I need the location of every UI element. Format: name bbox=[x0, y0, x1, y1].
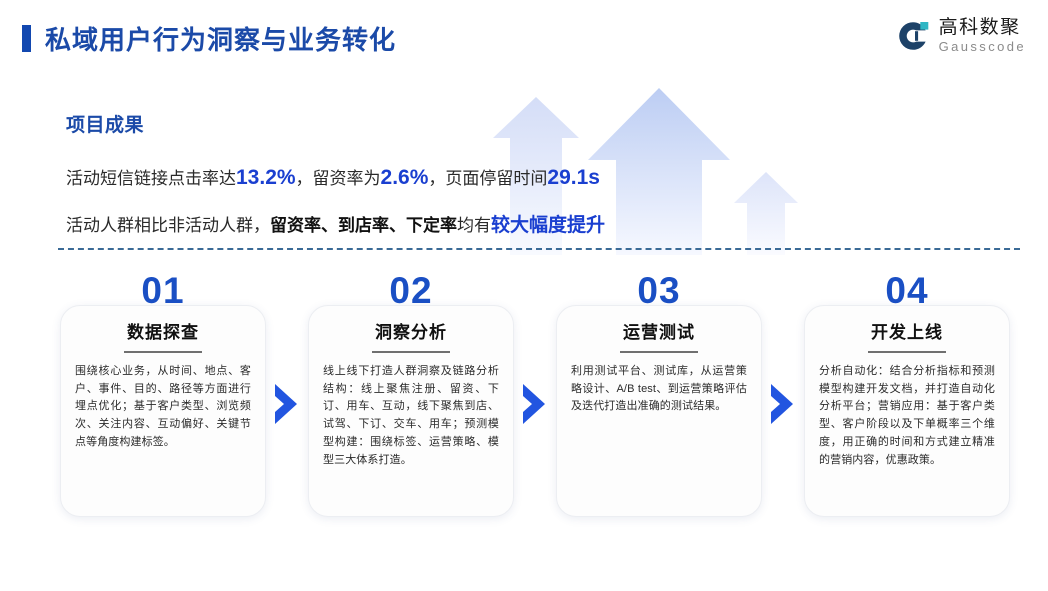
step-card-body: 线上线下打造人群洞察及链路分析结构：线上聚焦注册、留资、下订、用车、互动，线下聚… bbox=[323, 363, 499, 470]
logo-name-en: Gausscode bbox=[939, 40, 1026, 53]
step-card-title: 运营测试 bbox=[571, 324, 747, 343]
step-number: 03 bbox=[556, 272, 762, 309]
results-heading: 项目成果 bbox=[66, 110, 766, 137]
step-card-title: 数据探查 bbox=[75, 324, 251, 343]
step-number: 04 bbox=[804, 272, 1010, 309]
process-step: 01 数据探查 围绕核心业务，从时间、地点、客户、事件、目的、路径等方面进行埋点… bbox=[60, 272, 266, 527]
slide-root: 私域用户行为洞察与业务转化 高科数聚 Gausscode bbox=[0, 0, 1048, 591]
gausscode-logo-icon bbox=[896, 19, 930, 53]
step-card-title: 开发上线 bbox=[819, 324, 995, 343]
step-card-body: 分析自动化：结合分析指标和预测模型构建开发文档，并打造自动化分析平台；营销应用：… bbox=[819, 363, 995, 470]
results-line2-seg2: 均有 bbox=[457, 216, 491, 235]
process-step: 02 洞察分析 线上线下打造人群洞察及链路分析结构：线上聚焦注册、留资、下订、用… bbox=[308, 272, 514, 527]
results-line1-seg2: ，留资率为 bbox=[296, 169, 381, 188]
step-card-body: 围绕核心业务，从时间、地点、客户、事件、目的、路径等方面进行埋点优化；基于客户类… bbox=[75, 363, 251, 452]
step-card[interactable]: 数据探查 围绕核心业务，从时间、地点、客户、事件、目的、路径等方面进行埋点优化；… bbox=[60, 305, 266, 517]
logo-text-group: 高科数聚 Gausscode bbox=[939, 18, 1026, 53]
step-card-rule bbox=[868, 351, 946, 353]
title-group: 私域用户行为洞察与业务转化 bbox=[22, 20, 396, 57]
step-card[interactable]: 开发上线 分析自动化：结合分析指标和预测模型构建开发文档，并打造自动化分析平台；… bbox=[804, 305, 1010, 517]
results-line1-seg3: ，页面停留时间 bbox=[428, 169, 547, 188]
results-line2-seg1: 活动人群相比非活动人群， bbox=[66, 216, 270, 235]
step-card-body: 利用测试平台、测试库，从运营策略设计、A/B test、到运营策略评估及迭代打造… bbox=[571, 363, 747, 416]
logo-name-cn: 高科数聚 bbox=[939, 18, 1026, 37]
chevron-right-icon bbox=[270, 382, 300, 426]
metric-dwell-time: 29.1s bbox=[547, 166, 600, 189]
results-line-2: 活动人群相比非活动人群，留资率、到店率、下定率均有较大幅度提升 bbox=[66, 212, 766, 240]
project-results-block: 项目成果 活动短信链接点击率达13.2%，留资率为2.6%，页面停留时间29.1… bbox=[66, 110, 766, 259]
step-card-title: 洞察分析 bbox=[323, 324, 499, 343]
brand-logo: 高科数聚 Gausscode bbox=[896, 18, 1026, 53]
step-number: 02 bbox=[308, 272, 514, 309]
results-line2-bold: 留资率、到店率、下定率 bbox=[270, 216, 457, 235]
process-step: 04 开发上线 分析自动化：结合分析指标和预测模型构建开发文档，并打造自动化分析… bbox=[804, 272, 1010, 527]
page-title: 私域用户行为洞察与业务转化 bbox=[45, 20, 396, 57]
chevron-right-icon bbox=[518, 382, 548, 426]
chevron-right-icon bbox=[766, 382, 796, 426]
step-card-rule bbox=[620, 351, 698, 353]
metric-lead-rate: 2.6% bbox=[381, 166, 429, 189]
step-card[interactable]: 洞察分析 线上线下打造人群洞察及链路分析结构：线上聚焦注册、留资、下订、用车、互… bbox=[308, 305, 514, 517]
step-number: 01 bbox=[60, 272, 266, 309]
slide-header: 私域用户行为洞察与业务转化 高科数聚 Gausscode bbox=[0, 0, 1048, 78]
results-line1-seg1: 活动短信链接点击率达 bbox=[66, 169, 236, 188]
results-line2-highlight: 较大幅度提升 bbox=[491, 215, 605, 236]
step-card-rule bbox=[124, 351, 202, 353]
step-card[interactable]: 运营测试 利用测试平台、测试库，从运营策略设计、A/B test、到运营策略评估… bbox=[556, 305, 762, 517]
results-line-1: 活动短信链接点击率达13.2%，留资率为2.6%，页面停留时间29.1s bbox=[66, 163, 766, 193]
metric-click-rate: 13.2% bbox=[236, 166, 296, 189]
process-step: 03 运营测试 利用测试平台、测试库，从运营策略设计、A/B test、到运营策… bbox=[556, 272, 762, 527]
title-accent-bar bbox=[22, 25, 31, 52]
step-card-rule bbox=[372, 351, 450, 353]
